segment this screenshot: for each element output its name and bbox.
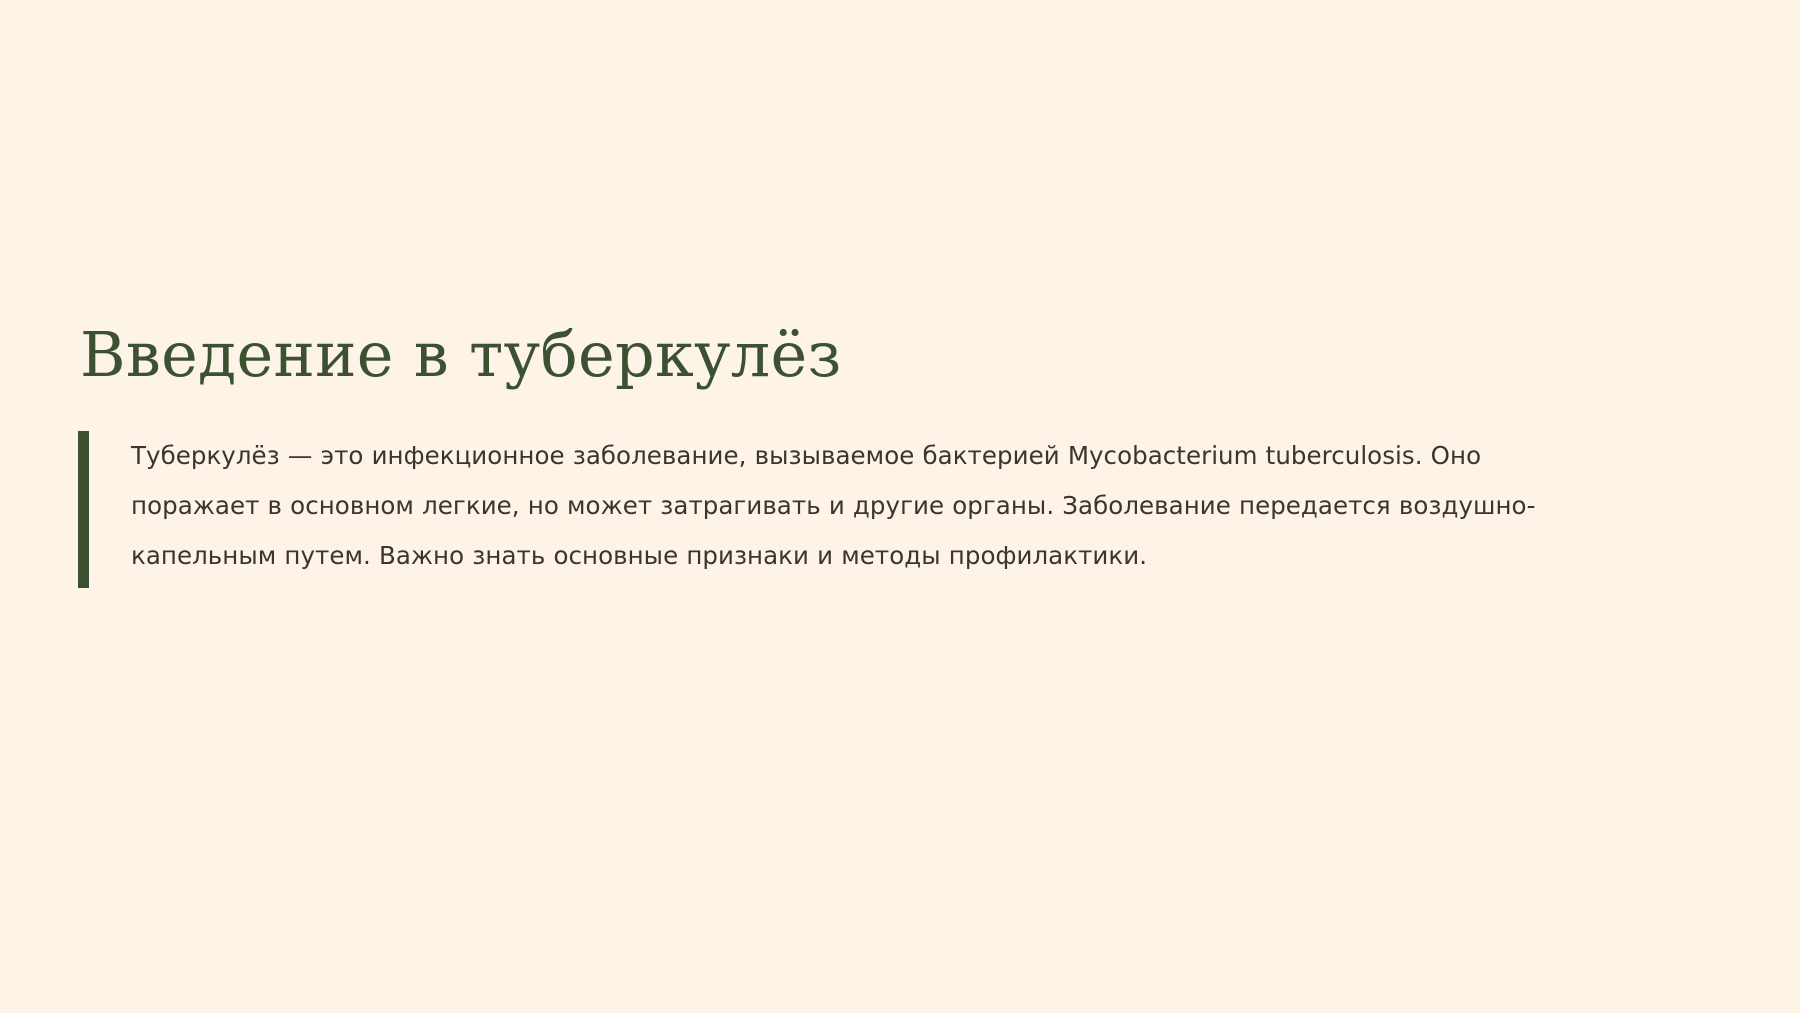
callout-body-text: Туберкулёз — это инфекционное заболевани… xyxy=(131,431,1593,581)
page-title: Введение в туберкулёз xyxy=(78,318,1638,391)
intro-callout: Туберкулёз — это инфекционное заболевани… xyxy=(78,431,1638,588)
callout-accent-bar xyxy=(78,431,89,588)
slide-canvas: Введение в туберкулёз Туберкулёз — это и… xyxy=(0,0,1800,1013)
slide-content: Введение в туберкулёз Туберкулёз — это и… xyxy=(78,318,1638,588)
